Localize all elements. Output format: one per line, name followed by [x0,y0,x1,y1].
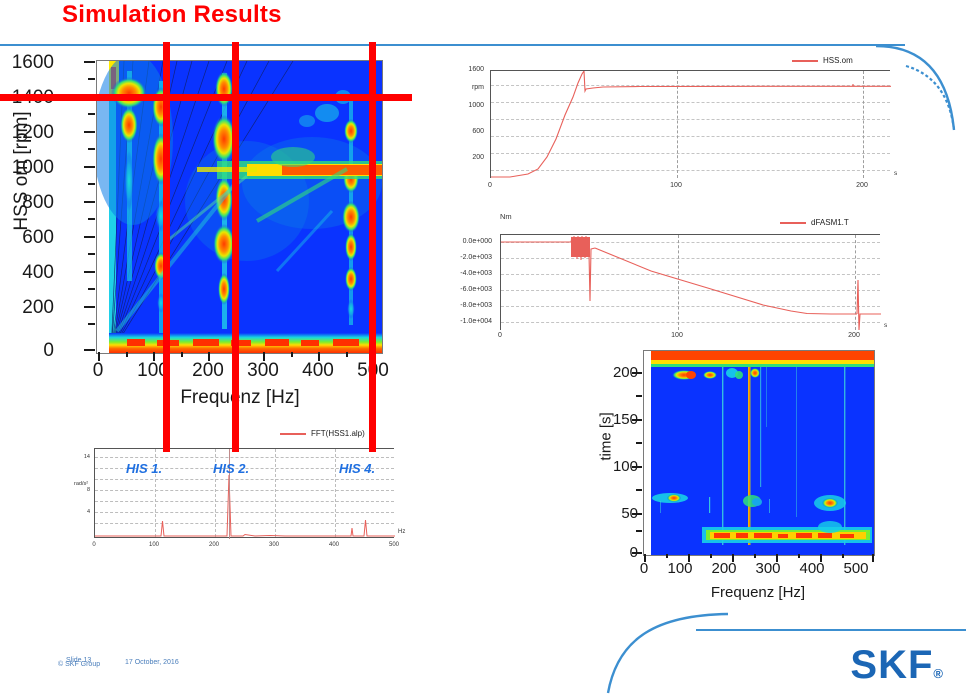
spec-time-xtick-200: 200 [704,560,744,577]
hssom-xunit: s [894,170,897,177]
annotation-his-2: HIS 2. [213,461,249,476]
fft-yunit: rad/s² [74,481,88,487]
dfasm-ytick-0: 0.0e+000 [446,238,492,245]
fft-xtick-0: 0 [82,542,106,548]
chart-hss-om: HSS.om 1600 rpm 1000 600 200 0 100 200 s [462,58,932,198]
spec-time-xtick-500: 500 [836,560,876,577]
spec-time-xtick-300: 300 [748,560,788,577]
spec-time-ytick-0: 0 [588,544,638,561]
spec-time-ytick-100: 100 [588,458,638,475]
dfasm-plot-area[interactable] [500,234,880,330]
hssom-xtick-0: 0 [478,182,502,189]
dfasm-legend: dFASM1.T [780,218,849,227]
fft-xtick-400: 400 [322,542,346,548]
hssom-legend-label: HSS.om [823,56,853,65]
dfasm-xtick-200: 200 [842,332,866,339]
fft-ytick-14: 14 [72,454,90,460]
spec-main-ytick-800: 800 [0,192,54,214]
hssom-xtick-200: 200 [850,182,874,189]
chart-fft-hss1-alp: FFT(HSS1.alp) 14 8 4 rad/s² [80,424,430,574]
dfasm-ytick-10000: -1.0e+004 [446,318,492,325]
fft-xtick-500: 500 [382,542,406,548]
dfasm-ytick-2000: -2.0e+003 [446,254,492,261]
hssom-ytick-1000: 1000 [460,102,484,109]
fft-legend: FFT(HSS1.alp) [280,429,365,438]
spec-time-xtick-0: 0 [624,560,664,577]
annotation-his-1: HIS 1. [126,461,162,476]
fft-xtick-100: 100 [142,542,166,548]
bottom-accent-rule [696,629,966,631]
hssom-legend: HSS.om [792,56,853,65]
dfasm-legend-swatch [780,222,806,224]
hssom-xtick-100: 100 [664,182,688,189]
spec-main-ytick-400: 400 [0,262,54,284]
skf-logo: SKF® [850,645,944,685]
dfasm-ytick-6000: -6.0e+003 [446,286,492,293]
dfasm-xtick-0: 0 [488,332,512,339]
dfasm-xtick-100: 100 [665,332,689,339]
spectrogram-time-xlabel: Frequenz [Hz] [638,584,878,601]
spectrogram-time-plot-area[interactable] [643,350,875,556]
fft-xunit: Hz [398,529,405,535]
chart-dfasm1-t: dFASM1.T Nm [450,206,932,346]
spec-main-ytick-1000: 1000 [0,157,54,179]
cursor-line-his1[interactable] [163,42,170,452]
spec-main-xtick-0: 0 [75,360,121,382]
fft-xtick-300: 300 [262,542,286,548]
cursor-line-his4[interactable] [369,42,376,452]
spec-time-ytick-200: 200 [588,364,638,381]
hssom-plot-area[interactable] [490,70,890,178]
dfasm-ytick-4000: -4.0e+003 [446,270,492,277]
dfasm-yunit: Nm [500,212,512,221]
fft-ytick-4: 4 [72,509,90,515]
fft-ytick-8: 8 [72,487,90,493]
spec-time-xtick-400: 400 [792,560,832,577]
spec-time-xtick-100: 100 [660,560,700,577]
spec-main-ytick-600: 600 [0,227,54,249]
spec-time-ytick-150: 150 [588,411,638,428]
spec-main-ytick-0: 0 [0,340,54,362]
footer-slide-number: Slide 13 [66,657,91,664]
chart-spectrogram-time: time [s] [580,344,910,614]
hssom-ytick-600: 600 [460,128,484,135]
fft-xtick-200: 200 [202,542,226,548]
spec-main-xtick-300: 300 [240,360,286,382]
hssom-legend-swatch [792,60,818,62]
annotation-his-4: HIS 4. [339,461,375,476]
spec-main-ytick-200: 200 [0,297,54,319]
page-title: Simulation Results [62,1,282,29]
spec-main-xtick-200: 200 [185,360,231,382]
hssom-ytick-1600: 1600 [460,66,484,73]
spec-main-ytick-1200: 1200 [0,122,54,144]
top-accent-rule [0,44,905,46]
spectrogram-main-plot-area[interactable] [96,60,383,354]
dfasm-xunit: s [884,322,887,329]
slide-canvas: Simulation Results HSS om [rpm] [0,0,966,695]
cursor-line-rpm[interactable] [0,94,412,101]
spectrogram-main-xlabel: Frequenz [Hz] [120,387,360,409]
footer-date: 17 October, 2016 [125,659,179,666]
spec-main-xtick-400: 400 [295,360,341,382]
fft-legend-label: FFT(HSS1.alp) [311,429,365,438]
hssom-ytick-200: 200 [460,154,484,161]
hssom-yunit: rpm [460,84,484,91]
skf-logo-text: SKF [850,643,933,687]
registered-trademark-icon: ® [933,666,944,681]
spec-time-ytick-50: 50 [588,505,638,522]
dfasm-ytick-8000: -8.0e+003 [446,302,492,309]
dfasm-legend-label: dFASM1.T [811,218,849,227]
spec-main-ytick-1600: 1600 [0,52,54,74]
cursor-line-his2[interactable] [232,42,239,452]
fft-legend-swatch [280,433,306,435]
